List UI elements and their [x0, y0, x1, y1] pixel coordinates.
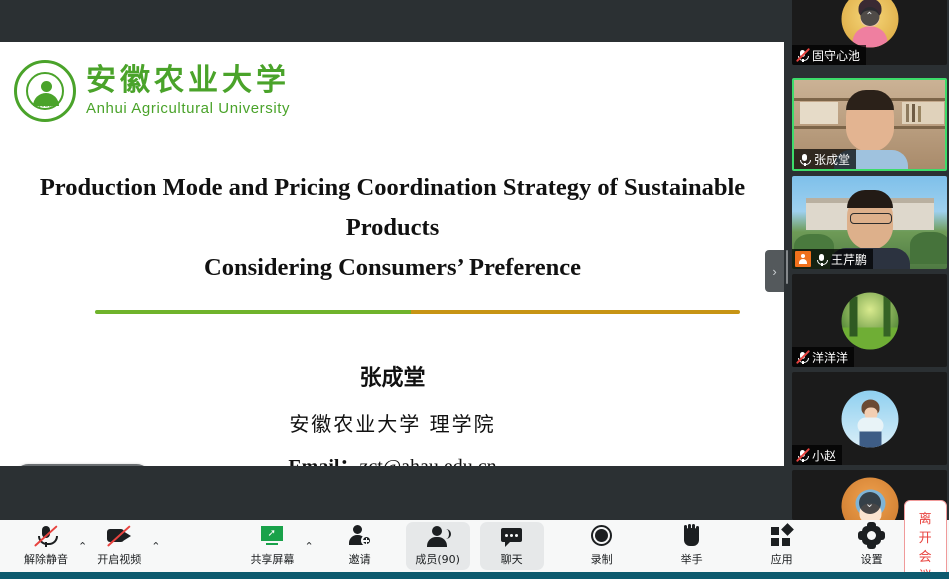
participant-name: 王芹鹏: [831, 251, 867, 268]
participant-namebar: 王芹鹏: [792, 249, 873, 269]
slide-title: Production Mode and Pricing Coordination…: [0, 168, 785, 288]
record-button[interactable]: 录制: [570, 522, 634, 570]
email-value: zct@ahau.edu.cn: [359, 456, 496, 466]
email-label: Email：: [288, 456, 359, 466]
meeting-control-bar: 解除静音 ⌃ 开启视频 ⌃ ➚ 共享屏幕 ⌃: [0, 520, 949, 572]
invite-button[interactable]: 邀请: [328, 522, 392, 570]
settings-button[interactable]: 设置: [840, 522, 904, 570]
participant-name: 张成堂: [814, 151, 850, 168]
window-footer-bar: [0, 572, 949, 579]
shared-screen-topbar: [0, 0, 785, 42]
record-icon: [589, 525, 615, 549]
microphone-muted-icon: [795, 350, 810, 365]
raise-hand-icon: [679, 525, 705, 549]
microphone-muted-icon: [795, 48, 810, 63]
invite-person-icon: [347, 525, 373, 549]
participant-namebar: 张成堂: [794, 149, 856, 169]
slide-title-line1: Production Mode and Pricing Coordination…: [16, 168, 769, 248]
leave-meeting-button[interactable]: 离开会议: [904, 500, 947, 579]
participant-namebar: 小赵: [792, 445, 842, 465]
participant-tile-active[interactable]: 张成堂: [792, 78, 947, 171]
gear-icon: [859, 525, 885, 549]
participants-button[interactable]: 成员(90): [406, 522, 470, 570]
share-screen-icon: ➚: [259, 525, 285, 549]
apps-button[interactable]: 应用: [750, 522, 814, 570]
participant-namebar: 固守心池: [792, 45, 866, 65]
audio-options-caret-icon[interactable]: ⌃: [78, 522, 87, 570]
presentation-slide: 1928 安徽农业大学 Anhui Agricultural Universit…: [0, 42, 785, 466]
host-badge-icon: [795, 251, 811, 267]
microphone-icon: [797, 152, 812, 167]
reaction-bar[interactable]: ☺ 说点什么... ‹: [14, 464, 151, 466]
participants-icon: [425, 525, 451, 549]
share-options-caret-icon[interactable]: ⌃: [304, 522, 313, 570]
microphone-muted-icon: [795, 448, 810, 463]
settings-button-label: 设置: [861, 551, 883, 567]
mute-button-label: 解除静音: [24, 551, 68, 567]
video-button[interactable]: 开启视频: [87, 522, 151, 570]
participants-button-label: 成员(90): [415, 551, 460, 567]
slide-title-line2: Considering Consumers’ Preference: [16, 248, 769, 288]
chevron-up-icon[interactable]: ⌃: [860, 7, 879, 26]
video-options-caret-icon[interactable]: ⌃: [151, 522, 160, 570]
microphone-icon: [814, 252, 829, 267]
share-screen-button[interactable]: ➚ 共享屏幕: [240, 522, 304, 570]
invite-button-label: 邀请: [349, 551, 371, 567]
raise-hand-label: 举手: [681, 551, 703, 567]
presenter-affiliation: 安徽农业大学 理学院: [0, 408, 785, 437]
chat-button-label: 聊天: [501, 551, 523, 567]
university-logo: 1928 安徽农业大学 Anhui Agricultural Universit…: [14, 60, 290, 122]
participant-tile[interactable]: 洋洋洋: [792, 274, 947, 367]
collapse-filmstrip-handle[interactable]: ›: [765, 250, 784, 292]
shared-screen-area: 1928 安徽农业大学 Anhui Agricultural Universit…: [0, 0, 785, 520]
share-screen-label: 共享屏幕: [250, 551, 294, 567]
chevron-down-icon[interactable]: ⌄: [859, 492, 881, 514]
participant-filmstrip: ⌃ 固守心池: [790, 0, 949, 520]
avatar: [841, 292, 898, 349]
seal-year: 1928: [17, 103, 73, 109]
video-off-icon: [106, 525, 132, 549]
avatar: [841, 390, 898, 447]
logo-chinese-name: 安徽农业大学: [86, 66, 290, 96]
participant-name: 固守心池: [812, 47, 860, 64]
apps-button-label: 应用: [771, 551, 793, 567]
record-button-label: 录制: [591, 551, 613, 567]
video-button-label: 开启视频: [97, 551, 141, 567]
apps-grid-icon: [769, 525, 795, 549]
chat-button[interactable]: 聊天: [480, 522, 544, 570]
participant-tile[interactable]: 小赵: [792, 372, 947, 465]
presenter-name: 张成堂: [0, 360, 785, 392]
logo-english-name: Anhui Agricultural University: [86, 100, 290, 117]
participant-name: 小赵: [812, 447, 836, 464]
participant-name: 洋洋洋: [812, 349, 848, 366]
participant-namebar: 洋洋洋: [792, 347, 854, 367]
meeting-window: 1928 安徽农业大学 Anhui Agricultural Universit…: [0, 0, 949, 579]
participant-tile[interactable]: 王芹鹏: [792, 176, 947, 269]
slide-divider-rule: [95, 310, 740, 314]
university-seal-icon: 1928: [14, 60, 76, 122]
chat-bubble-icon: [499, 525, 525, 549]
raise-hand-button[interactable]: 举手: [660, 522, 724, 570]
microphone-muted-icon: [33, 525, 59, 549]
mute-button[interactable]: 解除静音: [14, 522, 78, 570]
